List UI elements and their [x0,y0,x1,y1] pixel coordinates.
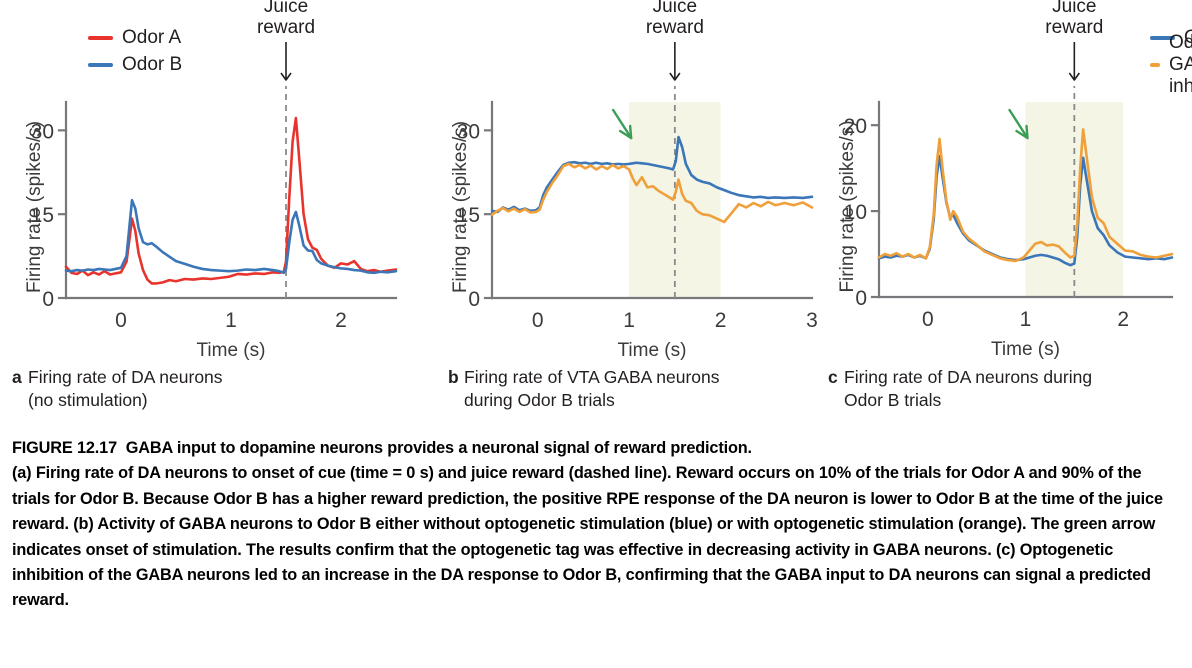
juice-reward-label-line1: Juice [1052,0,1096,17]
subcaption-b-line1: Firing rate of VTA GABA neurons [464,367,720,387]
x-tick-label: 3 [806,309,818,332]
legend-a: Odor AOdor B [88,24,182,78]
x-tick-label: 1 [1020,308,1032,331]
x-tick-label: 2 [715,309,727,332]
juice-reward-label-line1: Juice [264,0,308,17]
x-tick-label: 1 [225,309,237,332]
subcaption-b-line2: during Odor B trials [464,390,615,410]
subcaption-c-tag: c [828,366,844,389]
juice-reward-label-line2: reward [646,17,704,38]
figure-caption: FIGURE 12.17 GABA input to dopamine neur… [12,436,1180,614]
x-tick-label: 0 [922,308,934,331]
legend-label: Odor B + GABA inhibitor [1169,32,1192,98]
figure-12-17: 01530012Time (s)Firing rate (spikes/s)Ju… [0,0,1192,668]
x-axis-title: Time (s) [618,340,687,361]
panel-b: 015300123Time (s)Firing rate (spikes/s)J… [400,0,820,356]
juice-reward-label-line1: Juice [653,0,697,17]
y-axis-title: Firing rate (spikes/s) [837,120,858,292]
line-swatch-icon [88,63,113,67]
figure-number: FIGURE 12.17 [12,439,117,457]
legend-label: Odor A [122,27,181,49]
legend-item: Odor A [88,24,182,51]
caption-marker: (b) [73,515,93,533]
panel-a: 01530012Time (s)Firing rate (spikes/s)Ju… [0,0,400,356]
chart-b: 015300123Time (s)Firing rate (spikes/s)J… [400,0,820,356]
figure-title: GABA input to dopamine neurons provides … [126,439,752,457]
x-tick-label: 0 [532,309,544,332]
subcaption-c-line2: Odor B trials [844,390,941,410]
green-diagonal-arrow-icon [613,110,631,138]
green-diagonal-arrow-icon [1010,110,1028,138]
line-swatch-icon [1150,63,1160,67]
line-swatch-icon [88,36,113,40]
y-axis-title: Firing rate (spikes/s) [24,121,45,293]
trace-a-0 [66,118,396,283]
chart-c: 01020012Time (s)Firing rate (spikes/s)Ju… [820,0,1192,356]
caption-text-run: Activity of GABA neurons to Odor B eithe… [12,515,1155,558]
panel-subcaptions: aFiring rate of DA neurons(no stimulatio… [0,366,1192,424]
chart-a: 01530012Time (s)Firing rate (spikes/s)Ju… [0,0,400,356]
x-axis-title: Time (s) [197,340,266,361]
subcaption-b: bFiring rate of VTA GABA neuronsduring O… [448,366,808,412]
y-axis-title: Firing rate (spikes/s) [450,121,471,293]
juice-reward-label-line2: reward [257,17,315,38]
subcaption-a-tag: a [12,366,28,389]
x-tick-label: 2 [1117,308,1129,331]
caption-marker: (a) [12,464,31,482]
x-tick-label: 0 [115,309,127,332]
x-tick-label: 1 [623,309,635,332]
figure-caption-body: (a) Firing rate of DA neurons to onset o… [12,464,1163,609]
subcaption-b-tag: b [448,366,464,389]
panel-c: 01020012Time (s)Firing rate (spikes/s)Ju… [820,0,1192,356]
subcaption-c-line1: Firing rate of DA neurons during [844,367,1092,387]
subcaption-c: cFiring rate of DA neurons duringOdor B … [828,366,1178,412]
subcaption-a: aFiring rate of DA neurons(no stimulatio… [12,366,392,412]
juice-reward-label-line2: reward [1045,17,1103,38]
legend-c: Odor BOdor B + GABA inhibitor [1150,24,1192,78]
legend-item: Odor B + GABA inhibitor [1150,51,1192,78]
x-axis-title: Time (s) [991,339,1060,360]
legend-item: Odor B [88,51,182,78]
subcaption-a-line2: (no stimulation) [28,390,148,410]
x-tick-label: 2 [335,309,347,332]
panels-row: 01530012Time (s)Firing rate (spikes/s)Ju… [0,0,1192,356]
subcaption-a-line1: Firing rate of DA neurons [28,367,223,387]
caption-marker: (c) [996,541,1015,559]
legend-label: Odor B [122,54,182,76]
trace-a-1 [66,200,396,273]
